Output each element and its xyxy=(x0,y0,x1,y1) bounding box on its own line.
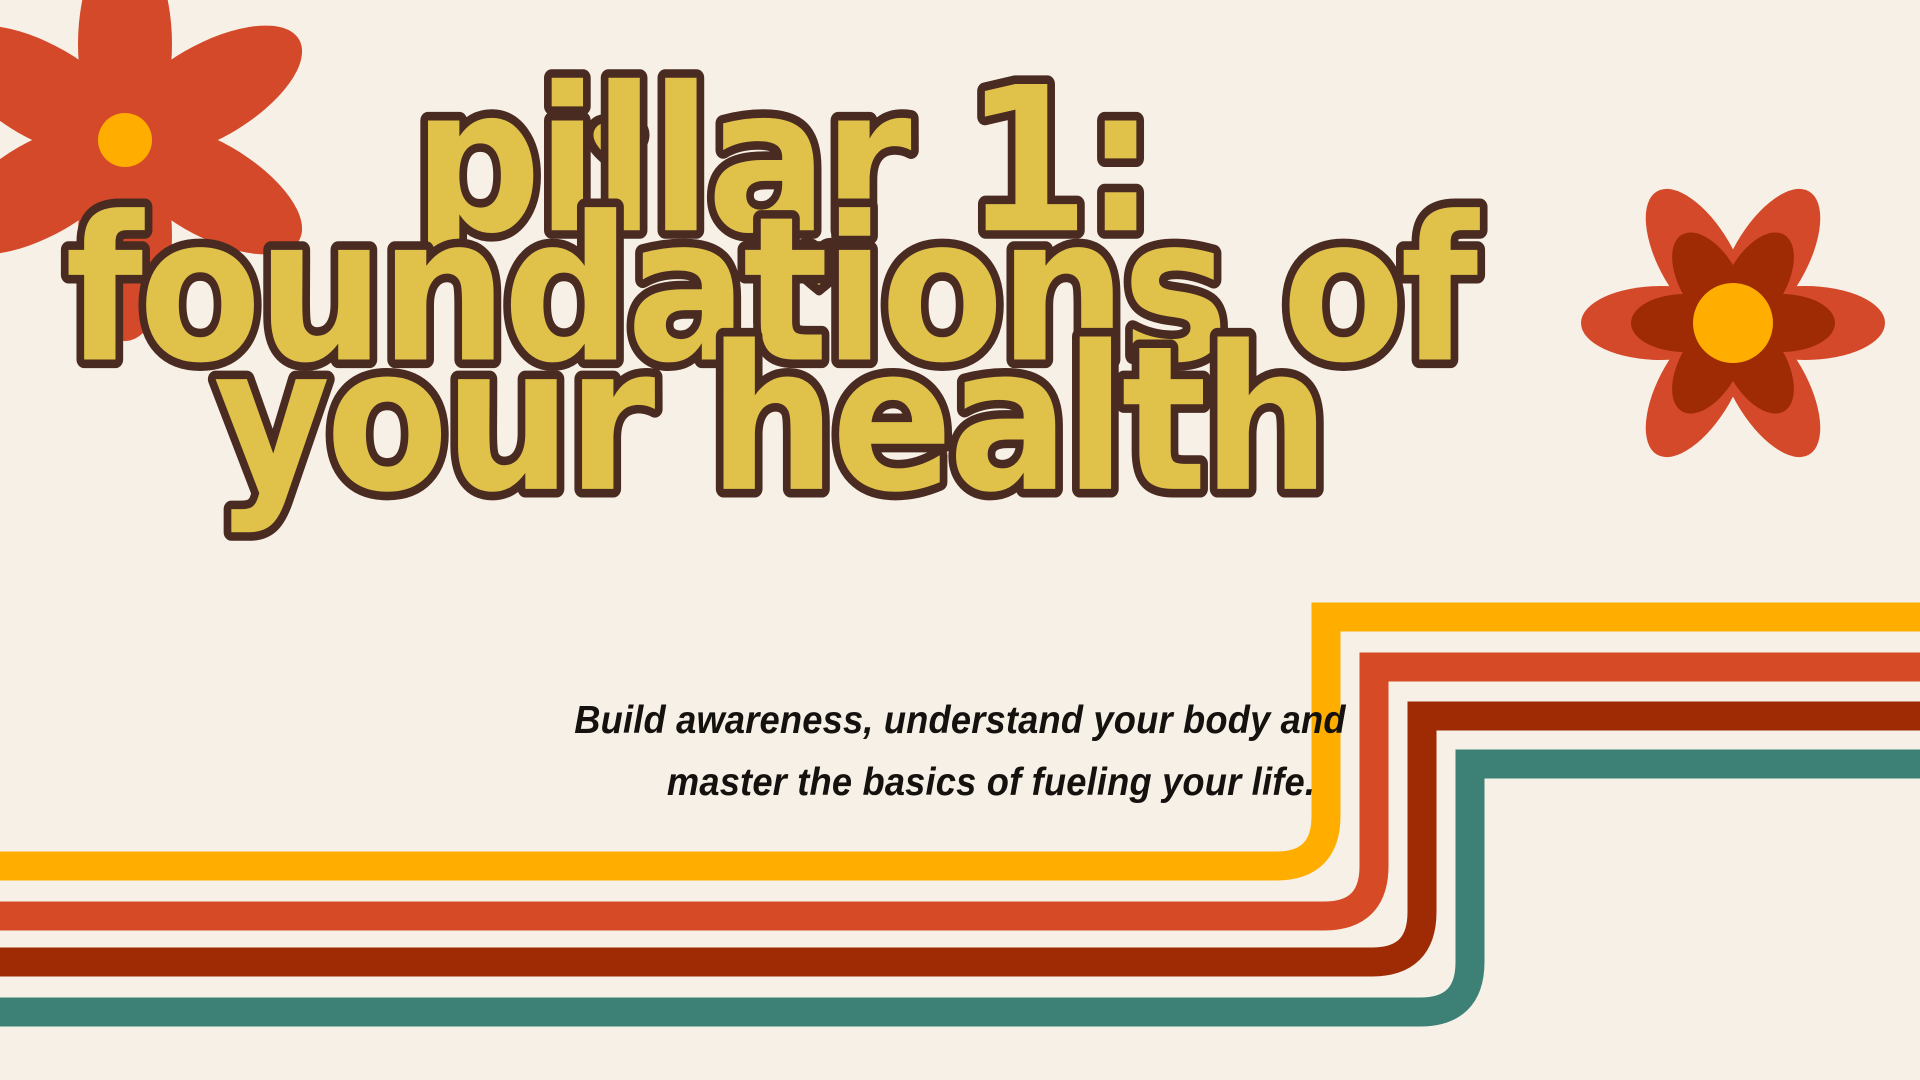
subtitle-line-1: Build awareness, understand your body an… xyxy=(402,690,1518,752)
title-artwork: pillar 1: foundations of your health xyxy=(0,88,1920,518)
title-line-3: your health xyxy=(213,302,1325,536)
subtitle: Build awareness, understand your body an… xyxy=(360,690,1560,814)
subtitle-line-2: master the basics of fueling your life. xyxy=(462,752,1520,814)
page-title: pillar 1: foundations of your health xyxy=(0,88,1920,518)
slide-canvas: pillar 1: foundations of your health Bui… xyxy=(0,0,1920,1080)
